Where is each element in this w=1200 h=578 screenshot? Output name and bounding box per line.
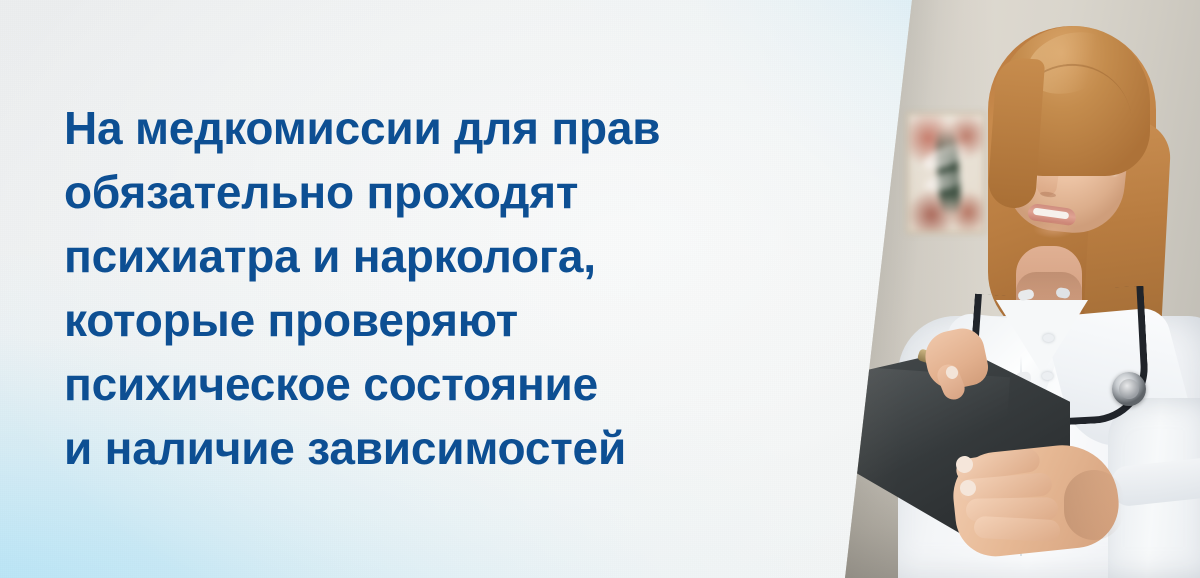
chin xyxy=(1026,222,1082,246)
informational-banner: На медкомиссии для прав обязательно прох… xyxy=(0,0,1200,578)
finger xyxy=(973,516,1060,542)
stethoscope-diaphragm xyxy=(1119,379,1139,399)
lab-coat-button xyxy=(1042,372,1053,380)
wrist-shadow xyxy=(1064,470,1124,540)
banner-headline: На медкомиссии для прав обязательно прох… xyxy=(64,96,854,480)
